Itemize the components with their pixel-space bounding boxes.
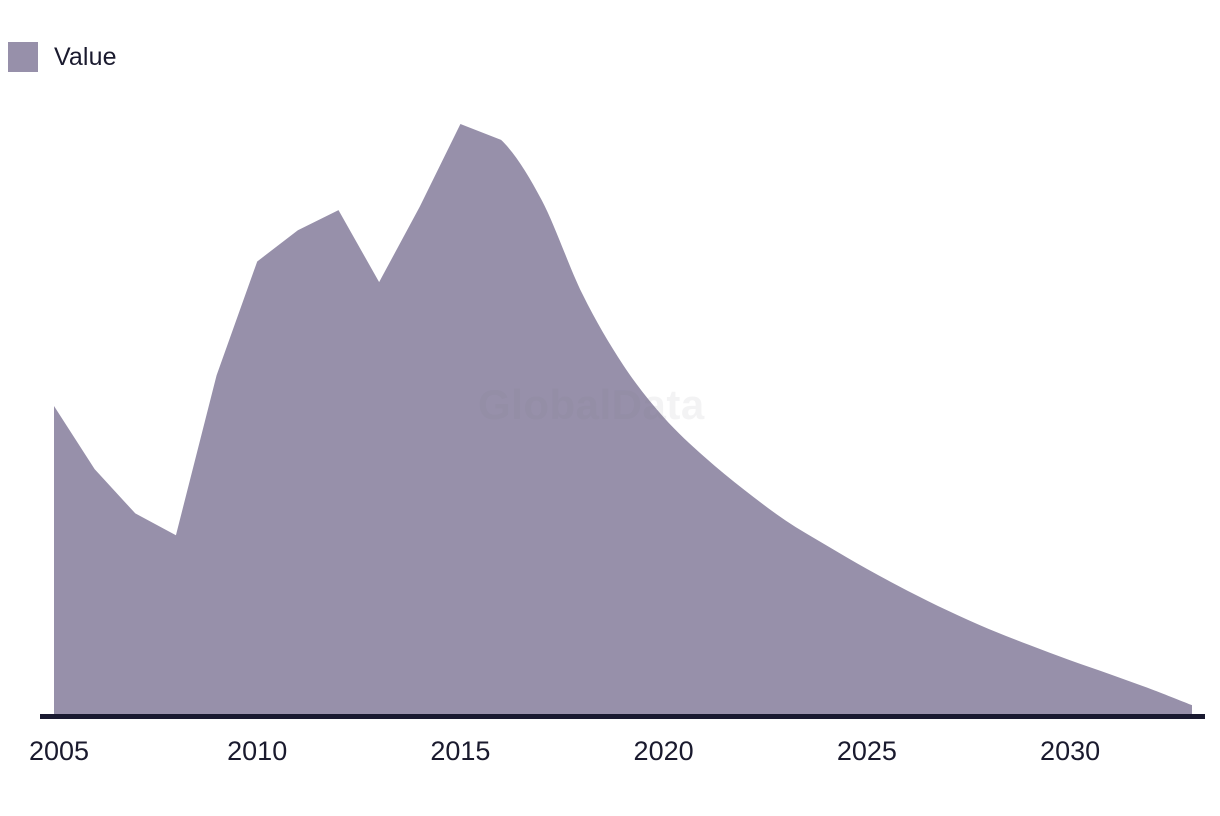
x-tick-2020: 2020: [634, 729, 694, 773]
area-series-value: [54, 124, 1192, 714]
x-axis-tick-labels: 200520102015202020252030: [0, 729, 1220, 773]
x-tick-2025: 2025: [837, 729, 897, 773]
x-tick-2030: 2030: [1040, 729, 1100, 773]
x-tick-2010: 2010: [227, 729, 287, 773]
plot-area: [0, 0, 1220, 816]
chart-root: Value GlobalData 20052010201520202025203…: [0, 0, 1220, 816]
x-tick-2015: 2015: [430, 729, 490, 773]
x-tick-2005: 2005: [29, 729, 89, 773]
area-chart-svg: [0, 0, 1220, 816]
